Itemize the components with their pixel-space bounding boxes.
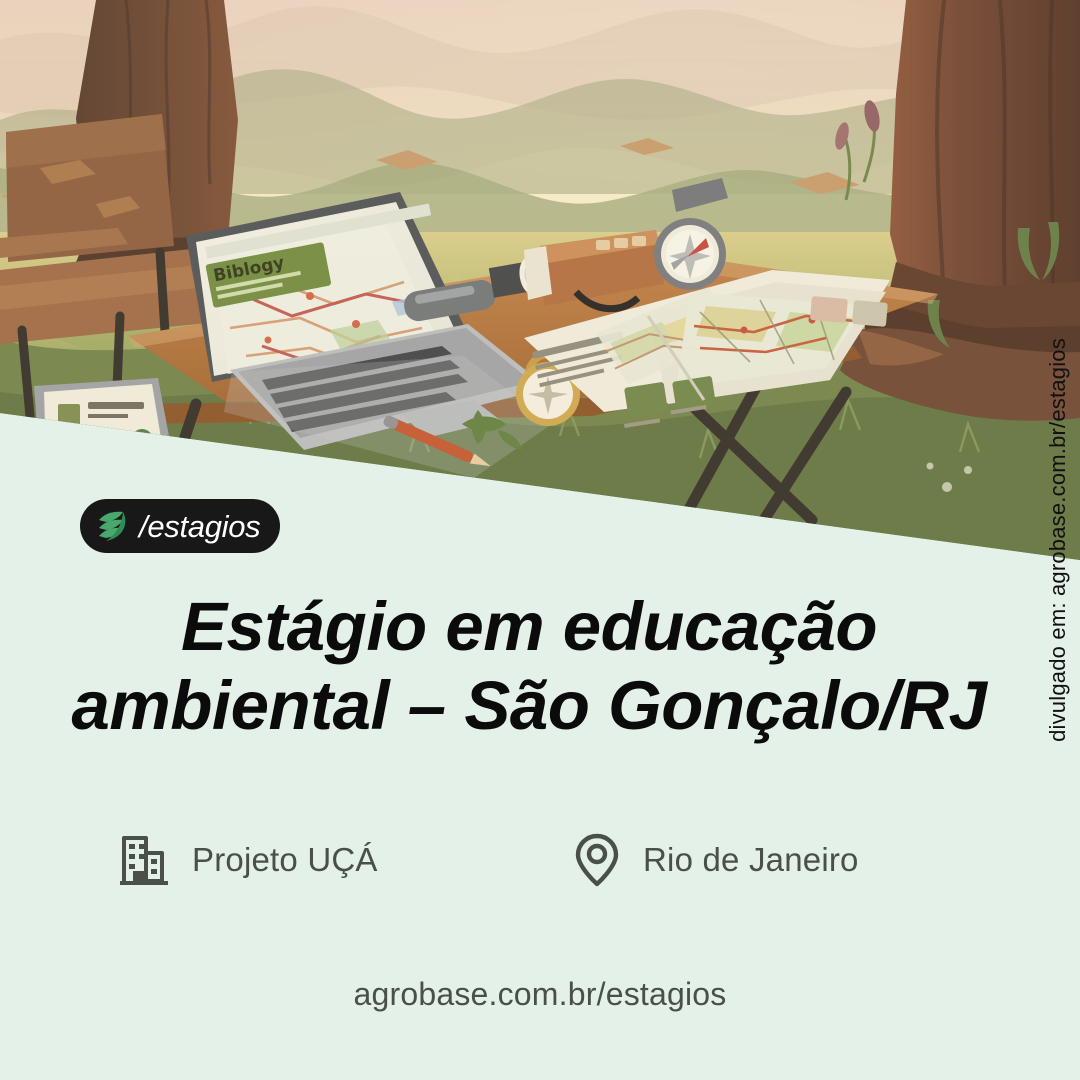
job-post-card: Biblogy bbox=[0, 0, 1080, 1080]
side-credit: divulgado em: agrobase.com.br/estagios bbox=[1038, 0, 1078, 1080]
forest-scene-svg: Biblogy bbox=[0, 0, 1080, 575]
map-pin-icon bbox=[573, 832, 621, 888]
location-label: Rio de Janeiro bbox=[643, 841, 859, 879]
meta-row: Projeto UÇÁ Rio de Janeiro bbox=[0, 832, 1080, 888]
footer-url[interactable]: agrobase.com.br/estagios bbox=[0, 976, 1080, 1013]
company-label: Projeto UÇÁ bbox=[192, 841, 378, 879]
building-icon bbox=[118, 833, 170, 887]
hero-illustration: Biblogy bbox=[0, 0, 1080, 575]
company-item: Projeto UÇÁ bbox=[118, 832, 573, 888]
brand-wordmark: /estagios bbox=[139, 511, 260, 542]
page-title: Estágio em educação ambiental – São Gonç… bbox=[54, 588, 1004, 745]
brand-logo-pill[interactable]: /estagios bbox=[80, 499, 280, 553]
location-item: Rio de Janeiro bbox=[573, 832, 859, 888]
stacked-leaves-logo-icon bbox=[96, 511, 130, 541]
side-credit-text: divulgado em: agrobase.com.br/estagios bbox=[1045, 338, 1071, 742]
